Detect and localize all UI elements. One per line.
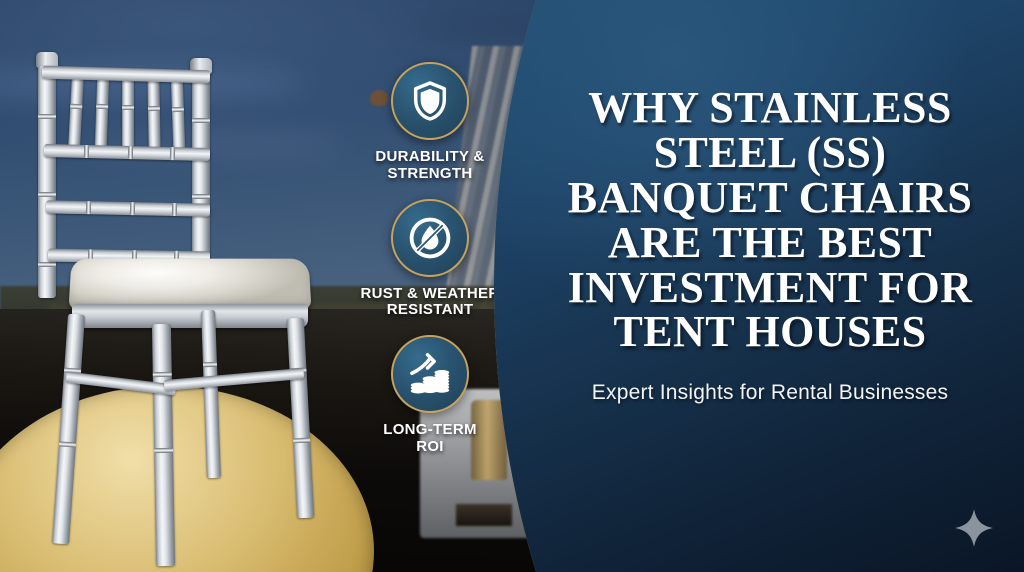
chair-back-spindle xyxy=(68,72,84,151)
chair-leg-back-left xyxy=(201,310,221,478)
chair-back-rail xyxy=(46,200,210,216)
chair-back-spindle xyxy=(171,75,186,151)
no-water-drop-icon xyxy=(407,215,453,261)
chair-back-rail xyxy=(44,144,210,161)
growth-coins-icon xyxy=(406,350,454,398)
shield-icon xyxy=(408,79,452,123)
chiavari-chair xyxy=(14,52,334,552)
seat-frame xyxy=(72,304,308,328)
panel-text-block: WHY STAINLESS STEEL (SS) BANQUET CHAIRS … xyxy=(534,86,1006,405)
seat-cushion xyxy=(68,259,311,310)
promotional-banner: DURABILITY & STRENGTH RUST & WEATHER RES… xyxy=(0,0,1024,572)
chair-leg-front-right xyxy=(152,324,175,566)
chair-stretcher xyxy=(164,368,304,391)
chair-back-post-left xyxy=(38,66,56,298)
chair-back-spindle xyxy=(147,74,160,151)
chair-seat xyxy=(70,258,310,332)
page-title: WHY STAINLESS STEEL (SS) BANQUET CHAIRS … xyxy=(534,86,1006,355)
chair-leg-back-right xyxy=(287,318,314,519)
badge-circle xyxy=(391,199,469,277)
chair-leg-front-left xyxy=(52,314,85,545)
headline-panel: WHY STAINLESS STEEL (SS) BANQUET CHAIRS … xyxy=(494,0,1024,572)
four-point-star-icon xyxy=(954,508,994,548)
badge-circle xyxy=(391,335,469,413)
chair-back-spindle xyxy=(122,73,134,151)
subtitle: Expert Insights for Rental Businesses xyxy=(534,381,1006,405)
chair-back-rail-top xyxy=(42,66,210,84)
chair-back-spindle xyxy=(95,72,110,150)
badge-circle xyxy=(391,62,469,140)
